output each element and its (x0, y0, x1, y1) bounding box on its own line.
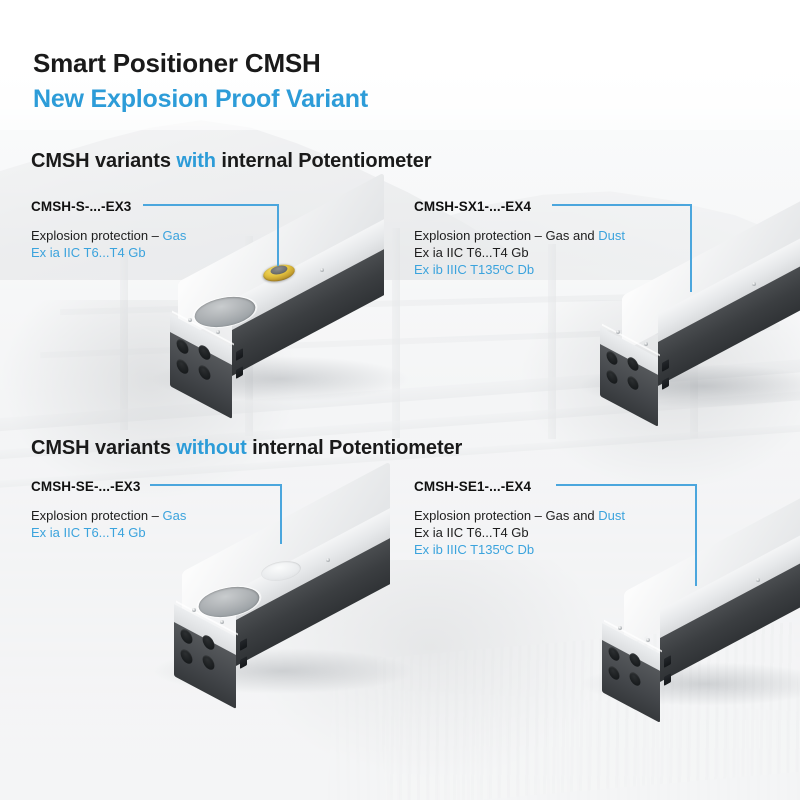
section-heading-with-potentiometer: CMSH variants with internal Potentiomete… (31, 150, 431, 173)
spec-line-2: Ex ia IIC T6...T4 Gb (31, 524, 186, 541)
page-title-secondary: New Explosion Proof Variant (33, 85, 368, 114)
section-heading-highlight: with (176, 150, 216, 172)
spec-label: Explosion protection – (31, 508, 163, 523)
infographic-canvas: Smart Positioner CMSH New Explosion Proo… (0, 0, 800, 800)
page-title-primary: Smart Positioner CMSH (33, 48, 321, 79)
spec-line-2: Ex ia IIC T6...T4 Gb (31, 244, 186, 261)
variant-spec-cmsh-sx1-ex4: Explosion protection – Gas and Dust Ex i… (414, 227, 625, 278)
section-heading-text-before: CMSH variants (31, 150, 176, 172)
spec-line-1: Explosion protection – Gas (31, 227, 186, 244)
variant-spec-cmsh-se1-ex4: Explosion protection – Gas and Dust Ex i… (414, 507, 625, 558)
spec-label: Explosion protection – Gas and (414, 228, 598, 243)
spec-line-3: Ex ib IIIC T135ºC Db (414, 541, 625, 558)
spec-gas-type: Gas (163, 508, 187, 523)
text-layer: Smart Positioner CMSH New Explosion Proo… (0, 0, 800, 800)
section-heading-text-after: internal Potentiometer (216, 150, 432, 172)
variant-spec-cmsh-se-ex3: Explosion protection – Gas Ex ia IIC T6.… (31, 507, 186, 541)
section-heading-highlight: without (176, 437, 246, 459)
section-heading-text-after: internal Potentiometer (247, 437, 463, 459)
spec-label: Explosion protection – (31, 228, 163, 243)
section-heading-text-before: CMSH variants (31, 437, 176, 459)
spec-line-2: Ex ia IIC T6...T4 Gb (414, 524, 625, 541)
spec-gas-type: Dust (598, 228, 625, 243)
spec-gas-type: Gas (163, 228, 187, 243)
variant-model-cmsh-s-ex3: CMSH-S-...-EX3 (31, 199, 131, 214)
spec-line-2: Ex ia IIC T6...T4 Gb (414, 244, 625, 261)
spec-line-3: Ex ib IIIC T135ºC Db (414, 261, 625, 278)
section-heading-without-potentiometer: CMSH variants without internal Potentiom… (31, 437, 462, 460)
spec-line-1: Explosion protection – Gas and Dust (414, 507, 625, 524)
spec-gas-type: Dust (598, 508, 625, 523)
variant-model-cmsh-sx1-ex4: CMSH-SX1-...-EX4 (414, 199, 531, 214)
variant-model-cmsh-se1-ex4: CMSH-SE1-...-EX4 (414, 479, 531, 494)
variant-spec-cmsh-s-ex3: Explosion protection – Gas Ex ia IIC T6.… (31, 227, 186, 261)
spec-line-1: Explosion protection – Gas (31, 507, 186, 524)
variant-model-cmsh-se-ex3: CMSH-SE-...-EX3 (31, 479, 141, 494)
spec-label: Explosion protection – Gas and (414, 508, 598, 523)
spec-line-1: Explosion protection – Gas and Dust (414, 227, 625, 244)
